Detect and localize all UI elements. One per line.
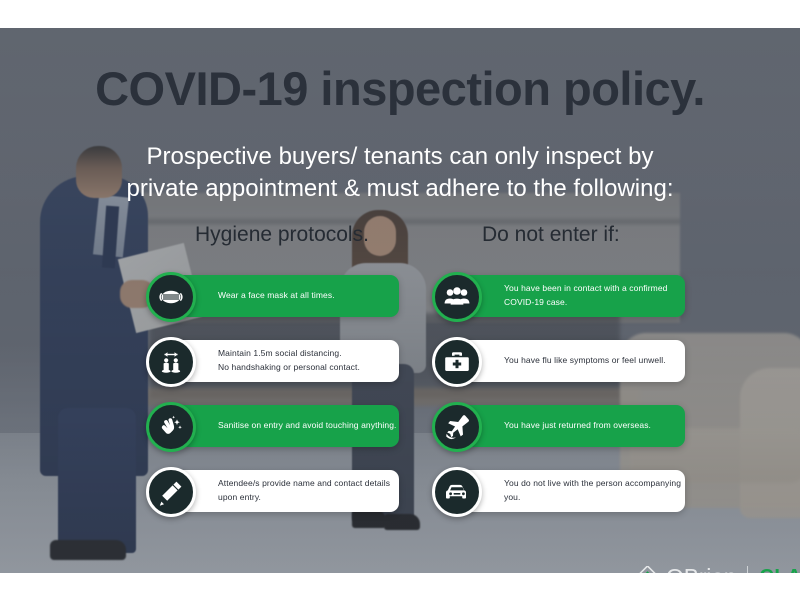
list-item: Sanitise on entry and avoid touching any…	[146, 402, 404, 450]
card-pill: You have been in contact with a confirme…	[460, 275, 685, 317]
group-of-people-icon	[432, 272, 482, 322]
card-text: Sanitise on entry and avoid touching any…	[218, 419, 397, 433]
card-pill: You do not live with the person accompan…	[460, 470, 685, 512]
diamond-icon	[636, 566, 659, 573]
poster-frame: COVID-19 inspection policy. Prospective …	[0, 0, 800, 600]
list-item: Attendee/s provide name and contact deta…	[146, 467, 404, 515]
card-text: You do not live with the person accompan…	[504, 477, 685, 505]
list-item: You have flu like symptoms or feel unwel…	[432, 337, 690, 385]
card-pill: Attendee/s provide name and contact deta…	[174, 470, 399, 512]
card-text: You have just returned from overseas.	[504, 419, 651, 433]
airplane-icon	[432, 402, 482, 452]
page-subtitle: Prospective buyers/ tenants can only ins…	[110, 141, 690, 205]
card-pill: Maintain 1.5m social distancing. No hand…	[174, 340, 399, 382]
card-text: Maintain 1.5m social distancing. No hand…	[218, 347, 360, 375]
card-pill: Wear a face mask at all times.	[174, 275, 399, 317]
do-not-enter-list: You have been in contact with a confirme…	[432, 272, 690, 532]
card-text: You have been in contact with a confirme…	[504, 282, 685, 310]
brand-name: OBrien	[666, 564, 736, 573]
list-item: You do not live with the person accompan…	[432, 467, 690, 515]
card-text: Wear a face mask at all times.	[218, 289, 335, 303]
hand-sanitise-icon	[146, 402, 196, 452]
list-item: You have been in contact with a confirme…	[432, 272, 690, 320]
hygiene-protocols-list: Wear a face mask at all times.	[146, 272, 404, 532]
pencil-icon	[146, 467, 196, 517]
brand-mark: CLARK	[759, 566, 800, 573]
do-not-enter-heading: Do not enter if:	[482, 223, 620, 247]
list-item: You have just returned from overseas.	[432, 402, 690, 450]
logo-divider	[747, 566, 748, 574]
list-item: Maintain 1.5m social distancing. No hand…	[146, 337, 404, 385]
card-text: You have flu like symptoms or feel unwel…	[504, 354, 666, 368]
card-pill: Sanitise on entry and avoid touching any…	[174, 405, 399, 447]
poster-canvas: COVID-19 inspection policy. Prospective …	[0, 28, 800, 573]
social-distancing-icon	[146, 337, 196, 387]
list-item: Wear a face mask at all times.	[146, 272, 404, 320]
page-title: COVID-19 inspection policy.	[0, 64, 800, 113]
card-text: Attendee/s provide name and contact deta…	[218, 477, 399, 505]
brand-logo: OBrien CLARK	[636, 564, 800, 573]
car-icon	[432, 467, 482, 517]
first-aid-kit-icon	[432, 337, 482, 387]
card-pill: You have just returned from overseas.	[460, 405, 685, 447]
hygiene-protocols-heading: Hygiene protocols.	[195, 223, 369, 247]
card-pill: You have flu like symptoms or feel unwel…	[460, 340, 685, 382]
face-mask-icon	[146, 272, 196, 322]
